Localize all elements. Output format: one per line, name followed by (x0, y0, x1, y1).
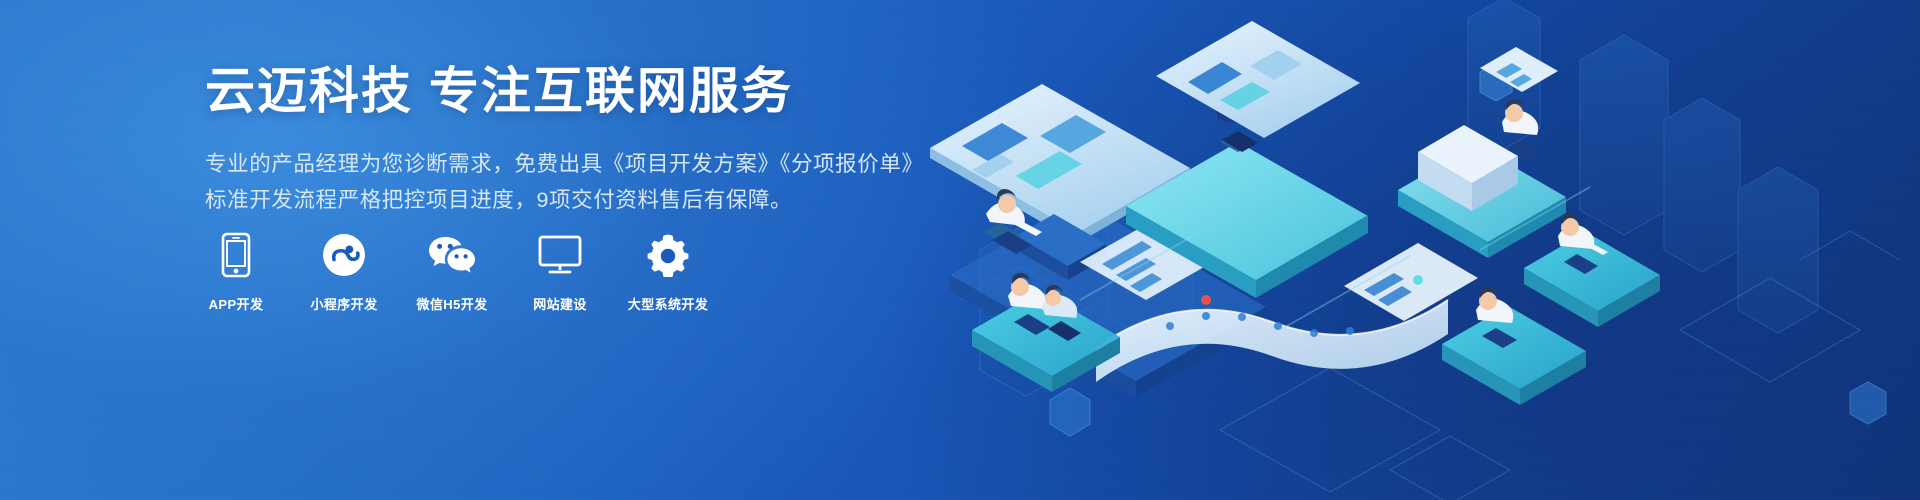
wechat-icon (428, 232, 476, 278)
mobile-phone-icon (221, 232, 251, 278)
service-label: APP开发 (209, 294, 264, 313)
service-item-app[interactable]: APP开发 (200, 232, 272, 313)
banner-copy: 云迈科技 专注互联网服务 专业的产品经理为您诊断需求，免费出具《项目开发方案》《… (205, 62, 925, 217)
page-title: 云迈科技 专注互联网服务 (205, 62, 925, 121)
service-item-website[interactable]: 网站建设 (524, 232, 596, 313)
gear-icon (646, 232, 690, 278)
service-label: 微信H5开发 (416, 294, 487, 313)
mini-program-icon (322, 232, 366, 278)
service-label: 小程序开发 (310, 294, 377, 313)
service-item-large-system[interactable]: 大型系统开发 (632, 232, 704, 313)
subtitle-line-2: 标准开发流程严格把控项目进度，9项交付资料售后有保障。 (205, 183, 925, 217)
monitor-icon (538, 232, 582, 278)
isometric-illustration (920, 0, 1920, 500)
promo-banner: 云迈科技 专注互联网服务 专业的产品经理为您诊断需求，免费出具《项目开发方案》《… (0, 0, 1920, 500)
service-item-mini-program[interactable]: 小程序开发 (308, 232, 380, 313)
service-item-wechat-h5[interactable]: 微信H5开发 (416, 232, 488, 313)
service-label: 网站建设 (533, 294, 587, 313)
service-list: APP开发 小程序开发 (200, 232, 704, 313)
subtitle-line-1: 专业的产品经理为您诊断需求，免费出具《项目开发方案》《分项报价单》 (205, 147, 925, 181)
service-label: 大型系统开发 (628, 294, 708, 313)
